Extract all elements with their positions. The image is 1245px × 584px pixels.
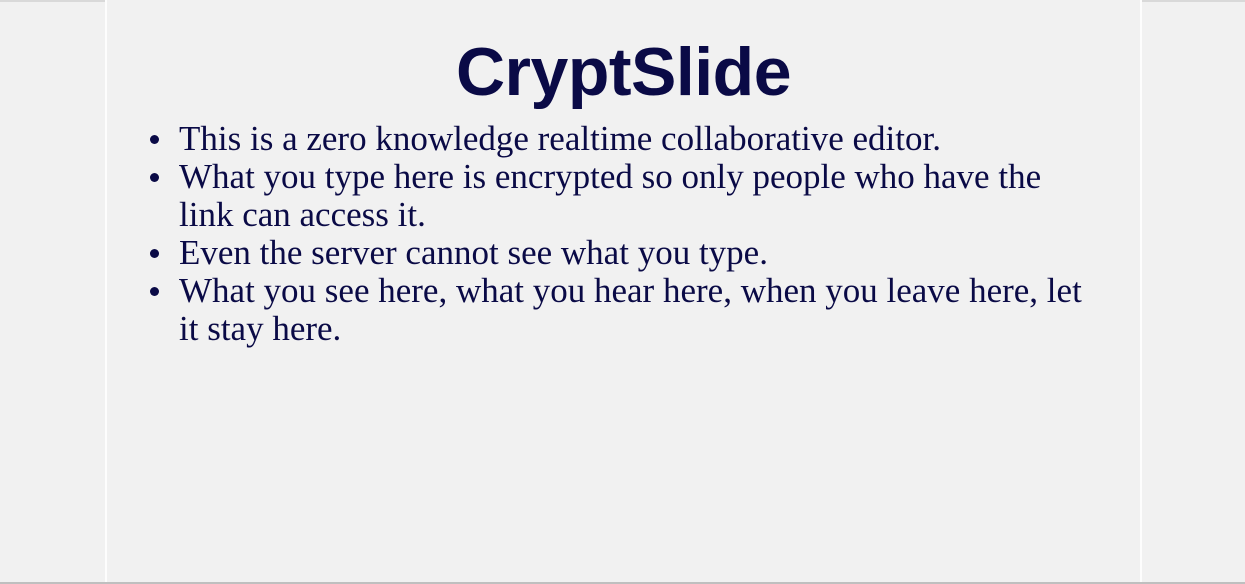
left-gutter: [0, 2, 105, 582]
list-item[interactable]: What you type here is encrypted so only …: [107, 158, 1140, 234]
bullet-dot-icon: [150, 287, 159, 296]
list-item[interactable]: What you see here, what you hear here, w…: [107, 272, 1140, 348]
slide-viewport: CryptSlide This is a zero knowledge real…: [0, 0, 1245, 584]
slide-title[interactable]: CryptSlide: [107, 0, 1140, 106]
bullet-dot-icon: [150, 249, 159, 258]
bullet-dot-icon: [150, 173, 159, 182]
list-item-text: This is a zero knowledge realtime collab…: [179, 120, 1092, 158]
list-item-text: What you type here is encrypted so only …: [179, 158, 1092, 234]
list-item-text: What you see here, what you hear here, w…: [179, 272, 1092, 348]
right-gutter: [1142, 2, 1245, 582]
bullet-dot-icon: [150, 135, 159, 144]
list-item[interactable]: This is a zero knowledge realtime collab…: [107, 120, 1140, 158]
list-item[interactable]: Even the server cannot see what you type…: [107, 234, 1140, 272]
slide-bullet-list[interactable]: This is a zero knowledge realtime collab…: [107, 120, 1140, 348]
slide-panel[interactable]: CryptSlide This is a zero knowledge real…: [105, 0, 1142, 582]
list-item-text: Even the server cannot see what you type…: [179, 234, 1092, 272]
